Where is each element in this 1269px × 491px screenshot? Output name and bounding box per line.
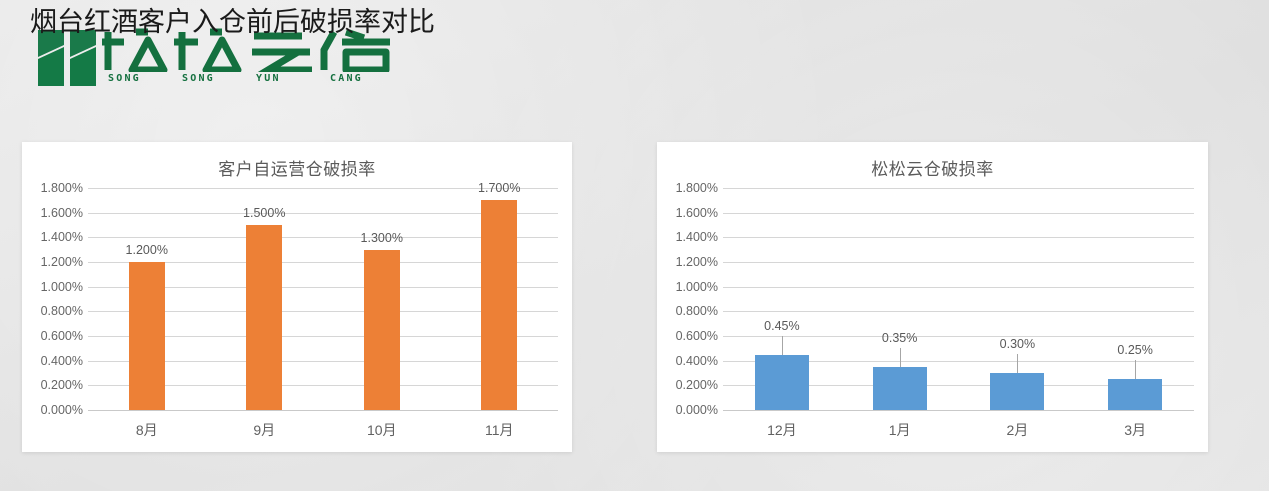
bar[interactable] — [990, 373, 1044, 410]
y-tick-label: 0.400% — [41, 354, 83, 368]
bar-cell[interactable]: 0.25% — [1076, 188, 1194, 410]
chart-title-right: 松松云仓破损率 — [657, 142, 1208, 180]
x-tick-label: 11月 — [441, 412, 559, 440]
y-axis-labels-right: 1.800%1.600%1.400%1.200%1.000%0.800%0.60… — [657, 188, 723, 410]
logo-pinyin-0: SONG — [108, 73, 182, 84]
bar-cell[interactable]: 0.30% — [959, 188, 1077, 410]
gridline — [723, 410, 1194, 411]
gridline — [88, 410, 558, 411]
y-tick-label: 1.000% — [41, 280, 83, 294]
y-tick-label: 0.600% — [676, 329, 718, 343]
logo-pinyin-row: SONG SONG YUN CANG — [108, 73, 404, 84]
bar-value-label: 1.300% — [361, 231, 403, 245]
x-tick-label: 10月 — [323, 412, 441, 440]
y-tick-label: 1.800% — [676, 181, 718, 195]
y-tick-label: 0.800% — [41, 304, 83, 318]
label-leader-line — [782, 336, 783, 355]
y-tick-label: 1.200% — [41, 255, 83, 269]
x-tick-label: 9月 — [206, 412, 324, 440]
bar-value-label: 1.500% — [243, 206, 285, 220]
bar[interactable] — [129, 262, 165, 410]
y-tick-label: 1.400% — [676, 230, 718, 244]
y-axis-labels-left: 1.800%1.600%1.400%1.200%1.000%0.800%0.60… — [22, 188, 88, 410]
bar-value-label: 1.200% — [126, 243, 168, 257]
logo-pinyin-1: SONG — [182, 73, 256, 84]
bar-cell[interactable]: 1.500% — [206, 188, 324, 410]
bar-value-label: 0.45% — [764, 319, 799, 333]
plot-area-left: 1.800%1.600%1.400%1.200%1.000%0.800%0.60… — [22, 188, 572, 436]
y-tick-label: 0.400% — [676, 354, 718, 368]
x-axis-labels-right: 12月1月2月3月 — [723, 412, 1194, 440]
x-tick-label: 3月 — [1076, 412, 1194, 440]
x-axis-labels-left: 8月9月10月11月 — [88, 412, 558, 440]
y-tick-label: 1.200% — [676, 255, 718, 269]
x-tick-label: 1月 — [841, 412, 959, 440]
x-tick-label: 2月 — [959, 412, 1077, 440]
y-tick-label: 0.200% — [676, 378, 718, 392]
page-title: 烟台红酒客户入仓前后破损率对比 — [30, 6, 435, 40]
label-leader-line — [1135, 360, 1136, 379]
bar-value-label: 0.35% — [882, 331, 917, 345]
bar-cell[interactable]: 0.45% — [723, 188, 841, 410]
label-leader-line — [900, 348, 901, 367]
label-leader-line — [1017, 354, 1018, 373]
y-tick-label: 1.400% — [41, 230, 83, 244]
plot-area-right: 1.800%1.600%1.400%1.200%1.000%0.800%0.60… — [657, 188, 1208, 436]
bar-cell[interactable]: 1.200% — [88, 188, 206, 410]
bar-value-label: 0.30% — [1000, 337, 1035, 351]
bar-value-label: 1.700% — [478, 181, 520, 195]
chart-panel-left: 客户自运营仓破损率 1.800%1.600%1.400%1.200%1.000%… — [22, 142, 572, 452]
bar[interactable] — [481, 200, 517, 410]
logo-pinyin-2: YUN — [256, 73, 330, 84]
bar[interactable] — [755, 355, 809, 411]
bar-value-label: 0.25% — [1117, 343, 1152, 357]
bar-series-left: 1.200%1.500%1.300%1.700% — [88, 188, 558, 410]
chart-title-left: 客户自运营仓破损率 — [22, 142, 572, 180]
y-tick-label: 0.600% — [41, 329, 83, 343]
logo-pinyin-3: CANG — [330, 73, 404, 84]
y-tick-label: 1.600% — [676, 206, 718, 220]
y-tick-label: 0.200% — [41, 378, 83, 392]
y-tick-label: 1.800% — [41, 181, 83, 195]
x-tick-label: 8月 — [88, 412, 206, 440]
bar[interactable] — [1108, 379, 1162, 410]
chart-panel-right: 松松云仓破损率 1.800%1.600%1.400%1.200%1.000%0.… — [657, 142, 1208, 452]
y-tick-label: 1.600% — [41, 206, 83, 220]
bar-cell[interactable]: 1.300% — [323, 188, 441, 410]
bar-cell[interactable]: 1.700% — [441, 188, 559, 410]
bar[interactable] — [873, 367, 927, 410]
y-tick-label: 0.000% — [41, 403, 83, 417]
bar[interactable] — [364, 250, 400, 410]
bar[interactable] — [246, 225, 282, 410]
y-tick-label: 0.800% — [676, 304, 718, 318]
bar-series-right: 0.45%0.35%0.30%0.25% — [723, 188, 1194, 410]
y-tick-label: 0.000% — [676, 403, 718, 417]
y-tick-label: 1.000% — [676, 280, 718, 294]
slide-canvas: 烟台红酒客户入仓前后破损率对比 — [0, 0, 1269, 491]
x-tick-label: 12月 — [723, 412, 841, 440]
bar-cell[interactable]: 0.35% — [841, 188, 959, 410]
